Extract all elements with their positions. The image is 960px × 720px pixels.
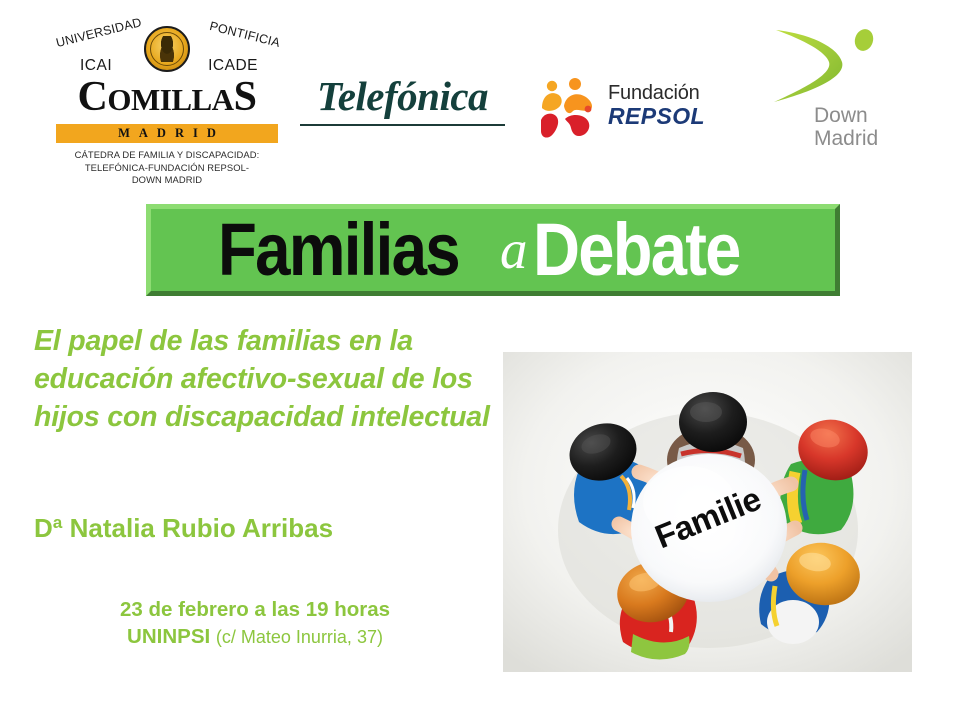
catedra-caption-line-3: DOWN MADRID bbox=[56, 174, 278, 187]
logo-down-madrid: Down Madrid bbox=[770, 26, 910, 151]
logo-comillas: UNIVERSIDAD PONTIFICIA ICAI ICADE COMILL… bbox=[56, 26, 278, 187]
event-address: (c/ Mateo Inurria, 37) bbox=[216, 627, 383, 647]
down-text-line-1: Down bbox=[814, 104, 878, 127]
repsol-wordmark: Fundación REPSOL bbox=[608, 82, 705, 129]
repsol-fundacion-text: Fundación bbox=[608, 82, 705, 104]
comillas-pontificia-text: PONTIFICIA bbox=[208, 19, 281, 50]
comillas-universidad-text: UNIVERSIDAD bbox=[55, 15, 143, 50]
familias-a-debate-banner: FamiliasaDebate bbox=[146, 204, 840, 296]
telefonica-underline bbox=[300, 124, 505, 126]
catedra-caption-line-1: CÁTEDRA DE FAMILIA Y DISCAPACIDAD: bbox=[56, 149, 278, 162]
comillas-icade-text: ICADE bbox=[208, 57, 258, 75]
page-title: El papel de las familias en la educación… bbox=[34, 322, 504, 436]
event-details: 23 de febrero a las 19 horas UNINPSI (c/… bbox=[55, 596, 455, 651]
down-text-line-2: Madrid bbox=[814, 127, 878, 150]
banner-word-debate: Debate bbox=[533, 211, 740, 289]
telefonica-wordmark: Telefónica bbox=[300, 72, 505, 120]
comillas-icai-text: ICAI bbox=[80, 57, 112, 75]
slide-canvas: UNIVERSIDAD PONTIFICIA ICAI ICADE COMILL… bbox=[0, 0, 960, 720]
two-figures-icon bbox=[538, 76, 600, 142]
banner-inner: FamiliasaDebate bbox=[218, 211, 768, 289]
photo-illustration bbox=[503, 352, 912, 672]
banner-word-a: a bbox=[500, 211, 528, 289]
speaker-name: Dª Natalia Rubio Arribas bbox=[34, 512, 333, 544]
logo-fundacion-repsol: Fundación REPSOL bbox=[538, 74, 718, 144]
logo-telefonica: Telefónica bbox=[300, 72, 505, 126]
sponsor-logo-bar: UNIVERSIDAD PONTIFICIA ICAI ICADE COMILL… bbox=[0, 0, 960, 195]
comillas-madrid-bar: MADRID bbox=[56, 124, 278, 143]
green-swoosh-icon bbox=[770, 26, 885, 106]
banner-word-familias: Familias bbox=[218, 211, 459, 289]
event-venue-line: UNINPSI (c/ Mateo Inurria, 37) bbox=[55, 623, 455, 651]
event-date: 23 de febrero a las 19 horas bbox=[55, 596, 455, 623]
playmobil-family-roundtable-photo: Familie bbox=[503, 352, 912, 672]
catedra-caption-line-2: TELEFÓNICA-FUNDACIÓN REPSOL- bbox=[56, 162, 278, 175]
repsol-repsol-text: REPSOL bbox=[608, 104, 705, 129]
catedra-caption: CÁTEDRA DE FAMILIA Y DISCAPACIDAD: TELEF… bbox=[56, 149, 278, 187]
comillas-wordmark: COMILLAS bbox=[56, 76, 278, 121]
heraldic-seal-icon bbox=[144, 26, 190, 72]
down-madrid-wordmark: Down Madrid bbox=[814, 104, 878, 150]
event-venue: UNINPSI bbox=[127, 625, 216, 648]
comillas-upper-lockup: UNIVERSIDAD PONTIFICIA ICAI ICADE bbox=[56, 26, 278, 78]
